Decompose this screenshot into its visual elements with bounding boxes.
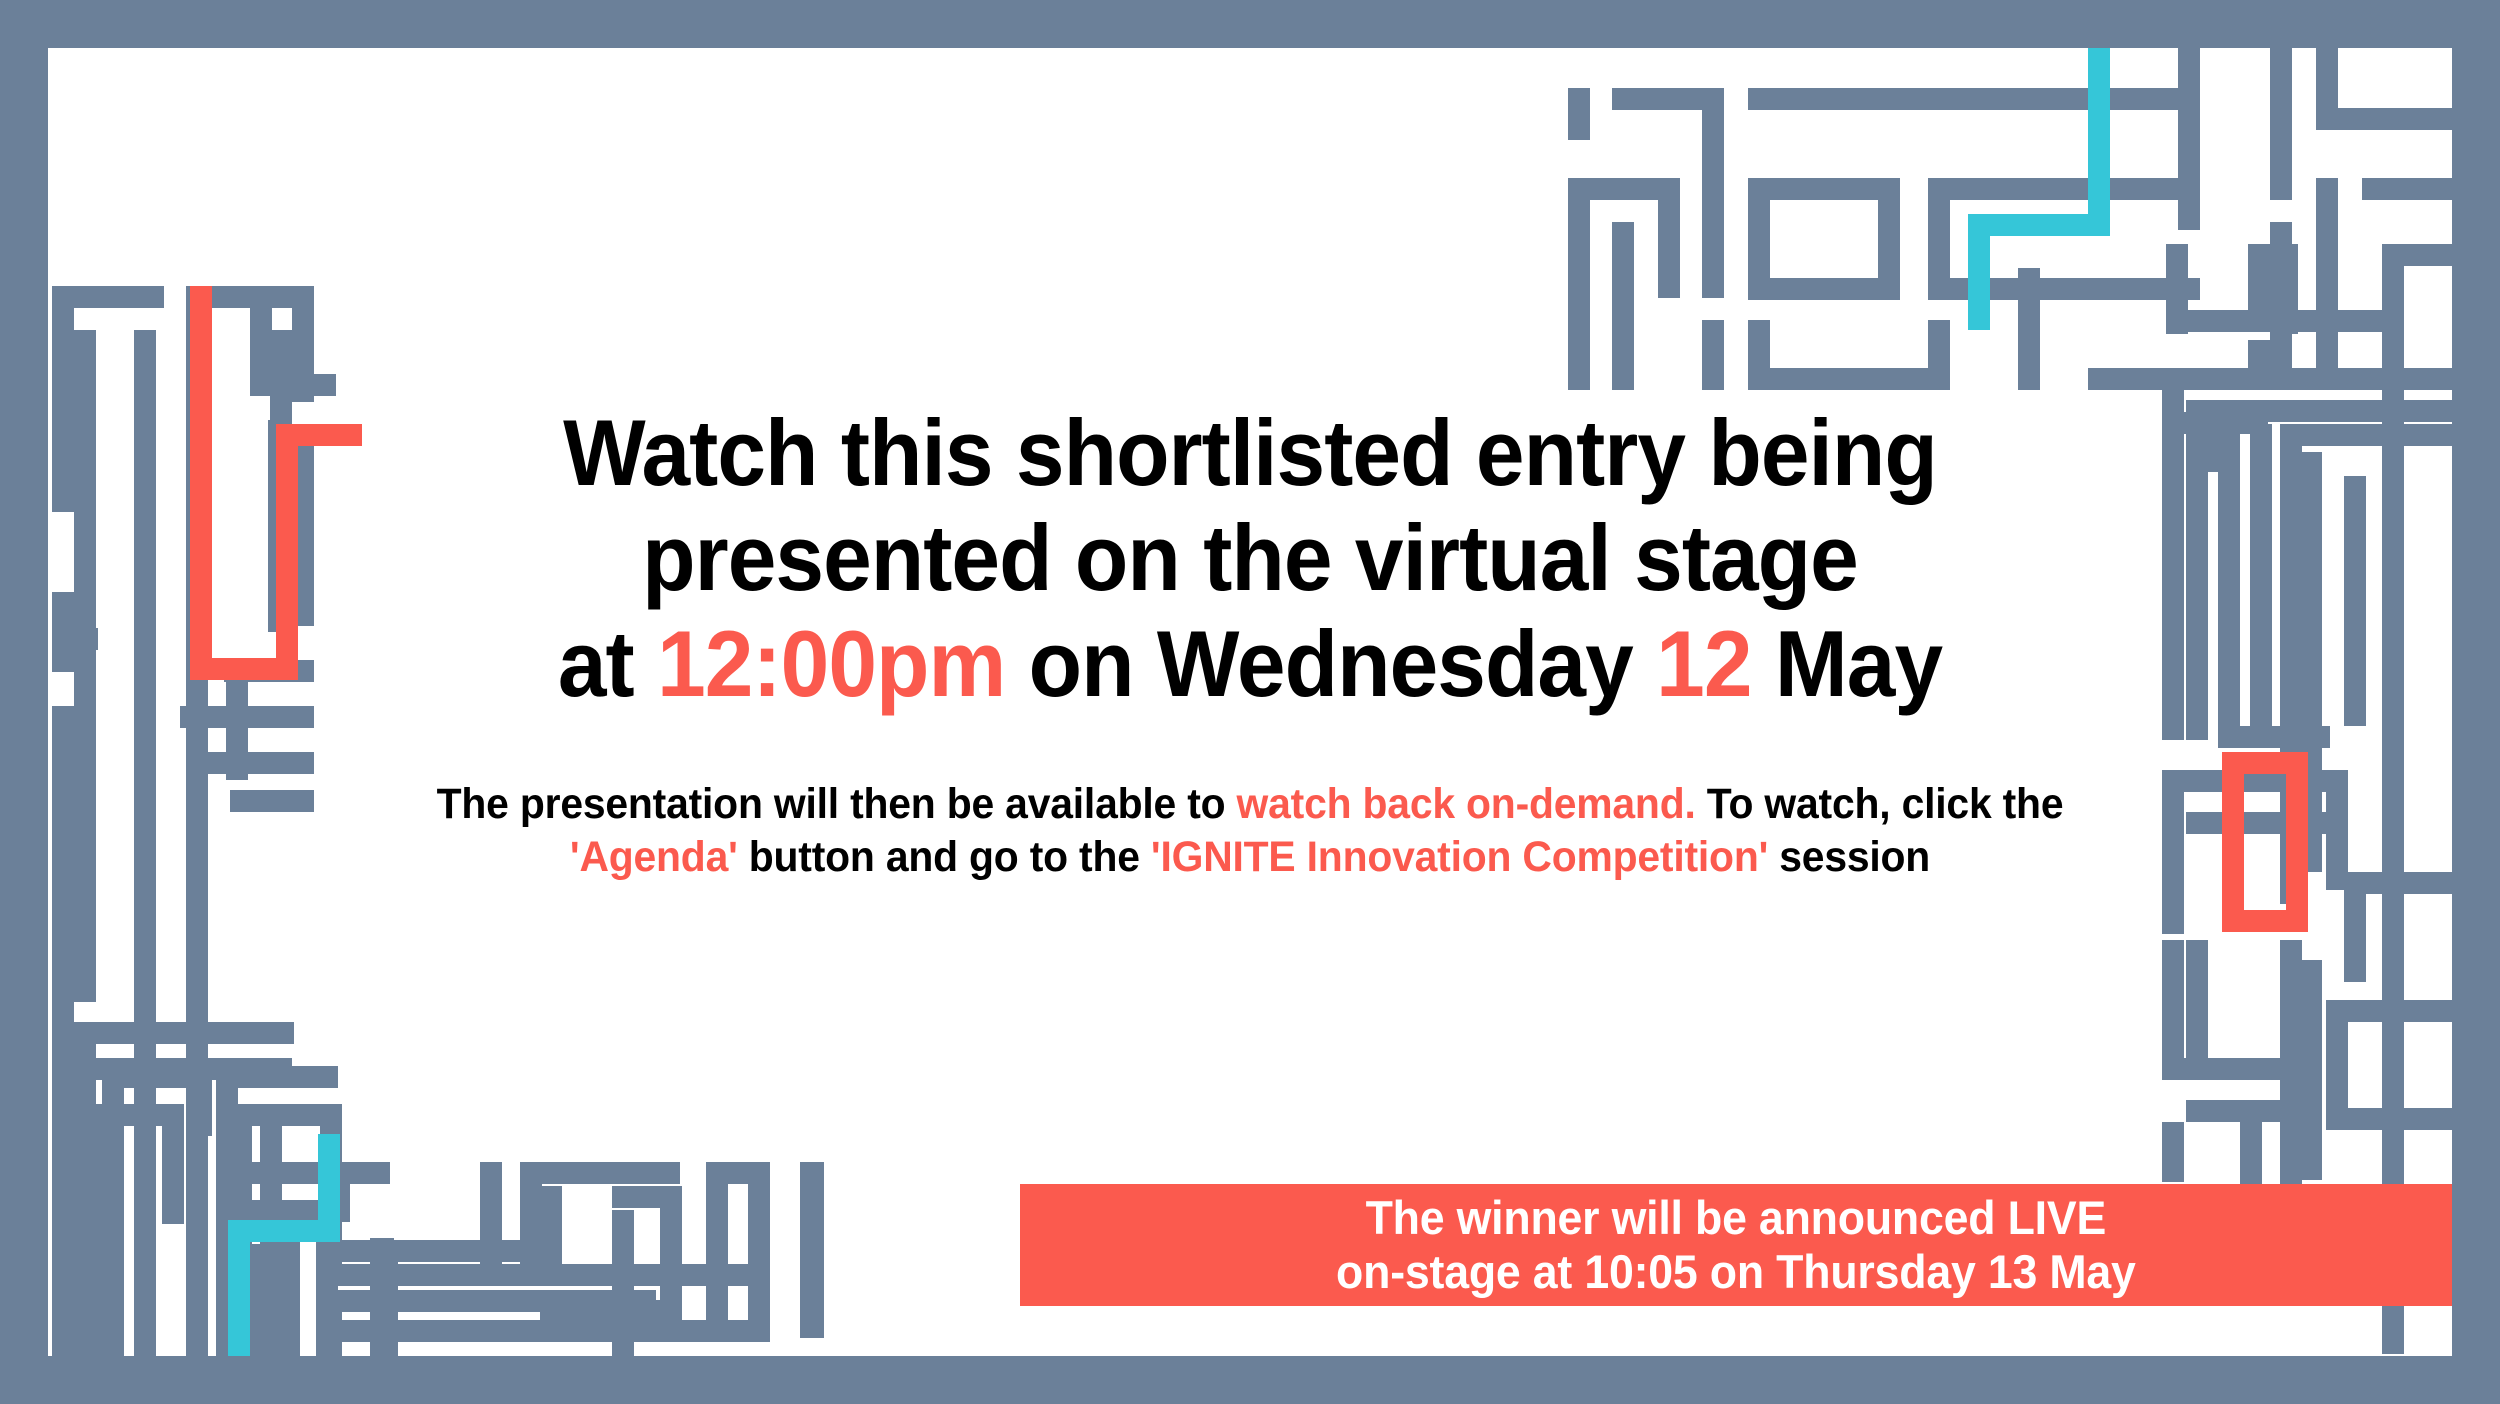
subline-accent-session-name: 'IGNITE Innovation Competition' [1151,833,1768,881]
page-title: Watch this shortlisted entry being prese… [432,400,2069,716]
headline-time: 12:00pm [657,611,1005,716]
subline-part-3: button and go to the [738,833,1151,881]
subline-part-4: session [1768,833,1930,881]
maze-group-bottom-left [54,1022,824,1356]
maze-group-right-coral [2222,752,2308,932]
maze-group-top-right-cyan [1968,40,2110,330]
frame-border-left [0,0,48,1404]
headline-line-3-middle: on Wednesday [1005,611,1656,716]
banner-text-block: The winner will be announced LIVE on-sta… [1336,1191,2136,1298]
subline-accent-watch-back: watch back on-demand. [1237,780,1696,828]
content-block: Watch this shortlisted entry being prese… [370,400,2130,884]
headline-line-3-prefix: at [558,611,657,716]
headline-day: 12 [1656,611,1751,716]
subline-part-2: To watch, click the [1696,780,2064,828]
frame-border-right [2452,0,2500,1404]
frame-border-bottom [0,1356,2500,1404]
subline-accent-agenda: 'Agenda' [570,833,738,881]
banner-line-2: on-stage at 10:05 on Thursday 13 May [1336,1245,2136,1298]
headline-line-2: presented on the virtual stage [642,505,1858,610]
frame-border-top [0,0,2500,48]
winner-announcement-banner: The winner will be announced LIVE on-sta… [1020,1184,2452,1306]
subtitle-paragraph: The presentation will then be available … [414,778,2086,885]
maze-group-bottom-left-cyan [228,1134,340,1356]
maze-group-left-coral [190,286,362,680]
banner-line-1: The winner will be announced LIVE [1366,1191,2106,1244]
poster-canvas: Watch this shortlisted entry being prese… [0,0,2500,1404]
subline-part-1: The presentation will then be available … [437,780,1237,828]
headline-line-1: Watch this shortlisted entry being [563,400,1937,505]
headline-line-3-suffix: May [1752,611,1943,716]
